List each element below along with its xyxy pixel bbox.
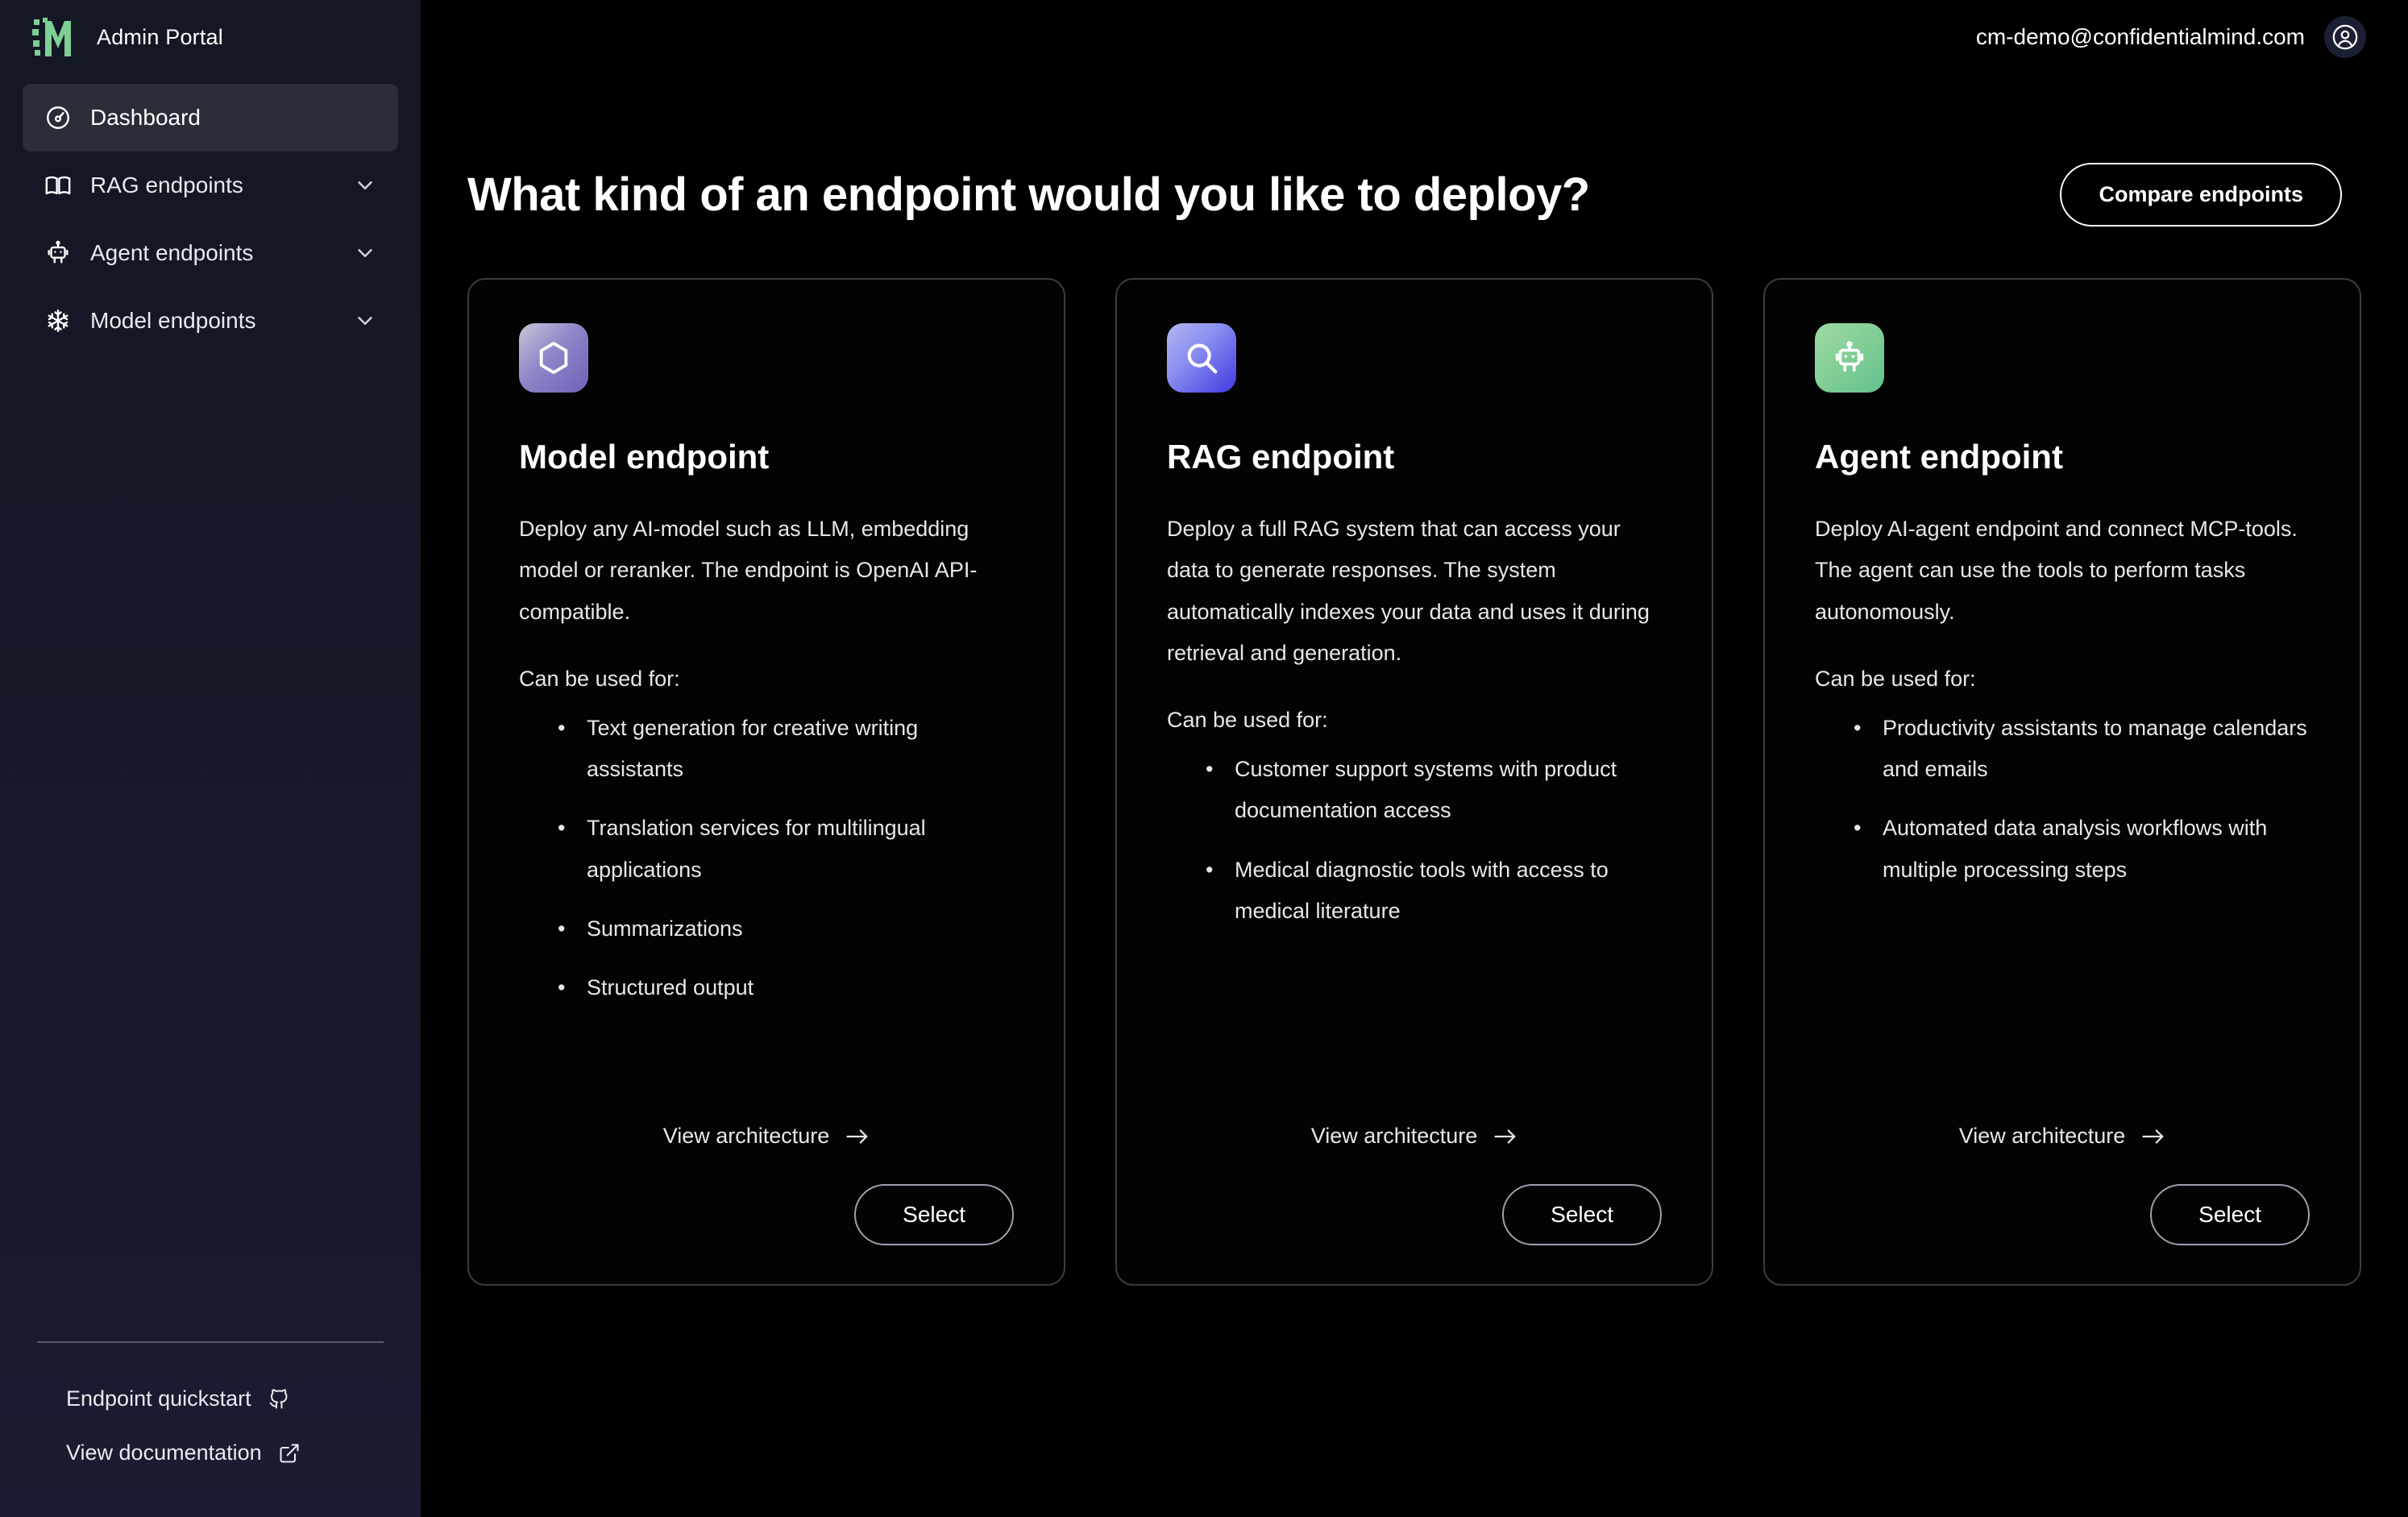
- sidebar-item-agent-endpoints[interactable]: Agent endpoints: [23, 219, 398, 287]
- chevron-down-icon[interactable]: [353, 241, 377, 265]
- compare-endpoints-button[interactable]: Compare endpoints: [2060, 163, 2342, 227]
- snowflake-icon: [44, 306, 73, 335]
- sidebar-item-rag-endpoints[interactable]: RAG endpoints: [23, 152, 398, 219]
- card-uses-list: Text generation for creative writing ass…: [519, 708, 1014, 1027]
- robot-icon: [1815, 323, 1884, 393]
- sidebar-item-dashboard[interactable]: Dashboard: [23, 84, 398, 152]
- page-header: What kind of an endpoint would you like …: [421, 74, 2408, 227]
- sidebar-footer: Endpoint quickstart View documentation: [0, 1341, 421, 1517]
- brand-header: Admin Portal: [0, 0, 421, 74]
- view-documentation-link[interactable]: View documentation: [37, 1426, 384, 1480]
- select-button[interactable]: Select: [2150, 1184, 2310, 1245]
- sidebar-divider: [37, 1341, 384, 1343]
- sidebar-item-label: Model endpoints: [90, 308, 335, 334]
- endpoint-quickstart-link[interactable]: Endpoint quickstart: [37, 1372, 384, 1426]
- card-description: Deploy any AI-model such as LLM, embeddi…: [519, 509, 1014, 633]
- view-architecture-label: View architecture: [1311, 1124, 1478, 1149]
- list-item: Productivity assistants to manage calend…: [1850, 708, 2310, 791]
- card-uses-list: Productivity assistants to manage calend…: [1815, 708, 2310, 908]
- select-row: Select: [1167, 1184, 1662, 1245]
- view-architecture-link[interactable]: View architecture: [1167, 1124, 1662, 1149]
- chevron-down-icon[interactable]: [353, 173, 377, 197]
- app-root: Admin Portal Dashboard RAG endp: [0, 0, 2408, 1517]
- card-rag-endpoint[interactable]: RAG endpoint Deploy a full RAG system th…: [1115, 278, 1713, 1286]
- view-architecture-label: View architecture: [1959, 1124, 2126, 1149]
- sidebar-nav: Dashboard RAG endpoints: [0, 84, 421, 355]
- view-documentation-label: View documentation: [66, 1440, 262, 1465]
- page-title: What kind of an endpoint would you like …: [467, 168, 1590, 222]
- card-footer: View architecture Select: [1815, 1124, 2310, 1245]
- view-architecture-link[interactable]: View architecture: [519, 1124, 1014, 1149]
- arrow-right-icon: [1493, 1127, 1517, 1146]
- list-item: Medical diagnostic tools with access to …: [1202, 850, 1662, 933]
- card-title: Model endpoint: [519, 438, 1014, 476]
- top-bar: cm-demo@confidentialmind.com: [421, 0, 2408, 74]
- card-footer: View architecture Select: [1167, 1124, 1662, 1245]
- pixel-m-logo-icon: [32, 16, 79, 58]
- list-item: Summarizations: [554, 908, 1014, 950]
- list-item: Automated data analysis workflows with m…: [1850, 808, 2310, 891]
- endpoint-cards: Model endpoint Deploy any AI-model such …: [421, 227, 2408, 1286]
- list-item: Translation services for multilingual ap…: [554, 808, 1014, 891]
- card-model-endpoint[interactable]: Model endpoint Deploy any AI-model such …: [467, 278, 1065, 1286]
- book-icon: [44, 171, 73, 200]
- github-icon: [268, 1388, 290, 1411]
- sidebar-item-label: Agent endpoints: [90, 240, 335, 266]
- card-description: Deploy AI-agent endpoint and connect MCP…: [1815, 509, 2310, 633]
- chevron-down-icon[interactable]: [353, 309, 377, 333]
- gauge-icon: [44, 103, 73, 132]
- card-description: Deploy a full RAG system that can access…: [1167, 509, 1662, 674]
- brand-title: Admin Portal: [97, 25, 223, 50]
- user-circle-icon[interactable]: [2324, 16, 2366, 58]
- arrow-right-icon: [845, 1127, 870, 1146]
- sidebar-item-label: Dashboard: [90, 105, 377, 131]
- card-uses-label: Can be used for:: [1815, 667, 2310, 692]
- list-item: Text generation for creative writing ass…: [554, 708, 1014, 791]
- endpoint-quickstart-label: Endpoint quickstart: [66, 1386, 251, 1411]
- search-icon: [1167, 323, 1236, 393]
- list-item: Customer support systems with product do…: [1202, 749, 1662, 832]
- select-button[interactable]: Select: [854, 1184, 1014, 1245]
- hexagon-icon: [519, 323, 588, 393]
- main-content: cm-demo@confidentialmind.com What kind o…: [421, 0, 2408, 1517]
- select-row: Select: [519, 1184, 1014, 1245]
- card-footer: View architecture Select: [519, 1124, 1014, 1245]
- select-button[interactable]: Select: [1502, 1184, 1662, 1245]
- sidebar-item-label: RAG endpoints: [90, 172, 335, 198]
- select-row: Select: [1815, 1184, 2310, 1245]
- user-email: cm-demo@confidentialmind.com: [1976, 24, 2305, 50]
- card-uses-label: Can be used for:: [1167, 708, 1662, 733]
- external-link-icon: [278, 1442, 301, 1465]
- card-title: RAG endpoint: [1167, 438, 1662, 476]
- card-title: Agent endpoint: [1815, 438, 2310, 476]
- sidebar: Admin Portal Dashboard RAG endp: [0, 0, 421, 1517]
- card-uses-list: Customer support systems with product do…: [1167, 749, 1662, 950]
- view-architecture-link[interactable]: View architecture: [1815, 1124, 2310, 1149]
- arrow-right-icon: [2141, 1127, 2165, 1146]
- card-uses-label: Can be used for:: [519, 667, 1014, 692]
- sidebar-item-model-endpoints[interactable]: Model endpoints: [23, 287, 398, 355]
- card-agent-endpoint[interactable]: Agent endpoint Deploy AI-agent endpoint …: [1763, 278, 2361, 1286]
- view-architecture-label: View architecture: [663, 1124, 830, 1149]
- robot-icon: [44, 239, 73, 268]
- list-item: Structured output: [554, 967, 1014, 1008]
